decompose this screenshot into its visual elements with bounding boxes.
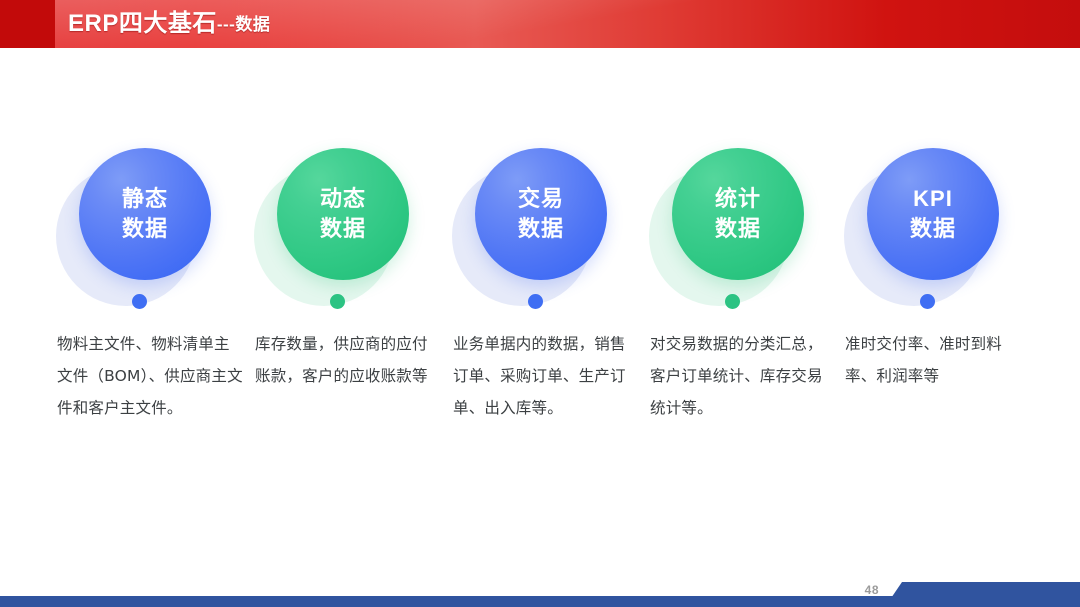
bubble-static-data[interactable]: 静态 数据 <box>52 140 248 315</box>
bubble-label-line1: 统计 <box>715 184 761 214</box>
bubble-dot <box>920 294 935 309</box>
page-title: ERP四大基石---数据 <box>68 9 270 40</box>
bubble-transaction-data[interactable]: 交易 数据 <box>448 140 644 315</box>
column-static-data: 静态 数据 物料主文件、物料清单主文件（BOM）、供应商主文件和客户主文件。 <box>52 140 248 315</box>
bubble-dot <box>725 294 740 309</box>
bubble-label-line1: KPI <box>913 184 953 214</box>
bubble-label-line1: 动态 <box>320 184 366 214</box>
slide-canvas: ERP四大基石---数据 静态 数据 物料主文件、物料清单主文件（BOM）、供应… <box>0 0 1080 607</box>
column-caption: 对交易数据的分类汇总，客户订单统计、库存交易统计等。 <box>650 328 836 424</box>
bubble-circle[interactable]: 动态 数据 <box>277 148 409 280</box>
title-bar-left-block <box>0 0 55 48</box>
column-statistics-data: 统计 数据 对交易数据的分类汇总，客户订单统计、库存交易统计等。 <box>645 140 841 315</box>
bubble-dot <box>528 294 543 309</box>
column-caption: 业务单据内的数据，销售订单、采购订单、生产订单、出入库等。 <box>453 328 639 424</box>
page-title-sub: ---数据 <box>217 15 270 34</box>
column-caption: 准时交付率、准时到料率、利润率等 <box>845 328 1031 392</box>
bubble-circle[interactable]: 交易 数据 <box>475 148 607 280</box>
bubble-dynamic-data[interactable]: 动态 数据 <box>250 140 446 315</box>
column-caption: 库存数量，供应商的应付账款，客户的应收账款等 <box>255 328 441 392</box>
bubble-kpi-data[interactable]: KPI 数据 <box>840 140 1036 315</box>
page-number: 48 <box>865 583 879 597</box>
bubble-label-line1: 静态 <box>122 184 168 214</box>
bubble-statistics-data[interactable]: 统计 数据 <box>645 140 841 315</box>
bubble-circle[interactable]: 统计 数据 <box>672 148 804 280</box>
bubble-dot <box>132 294 147 309</box>
slide-title-bar: ERP四大基石---数据 <box>0 0 1080 48</box>
bubble-label-line2: 数据 <box>122 214 168 244</box>
content-columns: 静态 数据 物料主文件、物料清单主文件（BOM）、供应商主文件和客户主文件。 动… <box>0 140 1080 540</box>
footer-corner-block <box>885 582 1080 607</box>
column-kpi-data: KPI 数据 准时交付率、准时到料率、利润率等 <box>840 140 1036 315</box>
bubble-dot <box>330 294 345 309</box>
bubble-circle[interactable]: 静态 数据 <box>79 148 211 280</box>
bubble-circle[interactable]: KPI 数据 <box>867 148 999 280</box>
bubble-label-line2: 数据 <box>910 214 956 244</box>
bubble-label-line2: 数据 <box>715 214 761 244</box>
page-title-main: ERP四大基石 <box>68 10 217 37</box>
column-dynamic-data: 动态 数据 库存数量，供应商的应付账款，客户的应收账款等 <box>250 140 446 315</box>
column-caption: 物料主文件、物料清单主文件（BOM）、供应商主文件和客户主文件。 <box>57 328 243 424</box>
column-transaction-data: 交易 数据 业务单据内的数据，销售订单、采购订单、生产订单、出入库等。 <box>448 140 644 315</box>
bubble-label-line2: 数据 <box>320 214 366 244</box>
bubble-label-line1: 交易 <box>518 184 564 214</box>
bubble-label-line2: 数据 <box>518 214 564 244</box>
